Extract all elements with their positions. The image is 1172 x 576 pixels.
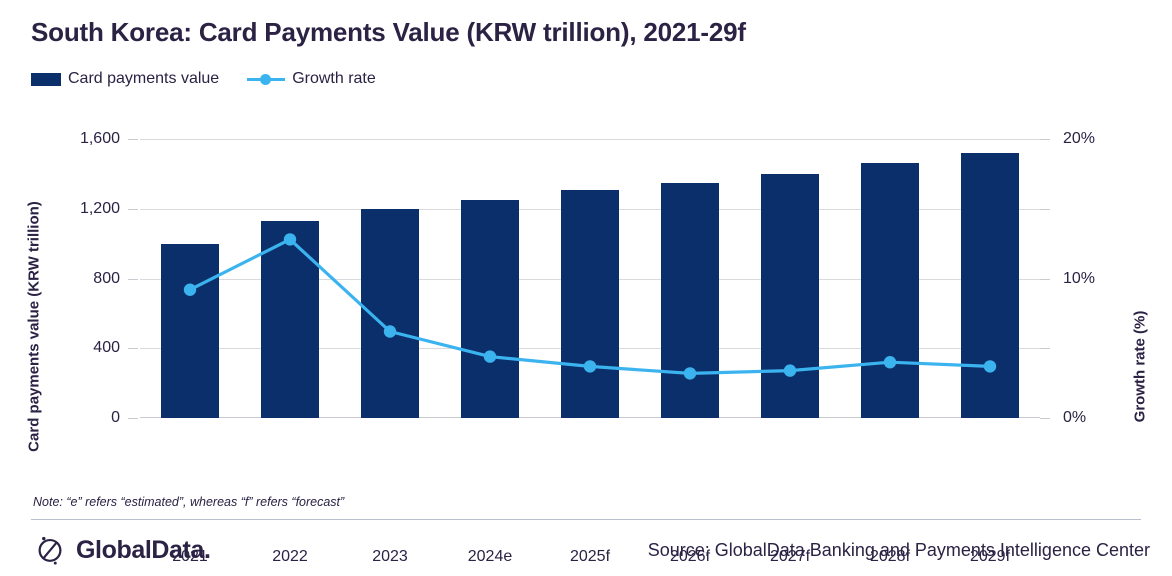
chart-note: Note: “e” refers “estimated”, whereas “f… [33, 495, 344, 509]
y-axis-right-minor-tick [1040, 348, 1050, 349]
bar-swatch-icon [31, 73, 61, 86]
bar-2026f [661, 183, 719, 418]
y-axis-right-tick [1040, 139, 1050, 140]
y-axis-left-tick-label: 1,200 [80, 200, 120, 218]
legend-item-card-payments-value: Card payments value [31, 70, 219, 88]
bar-2024e [461, 200, 519, 418]
y-axis-right-minor-tick [1040, 209, 1050, 210]
note-divider [31, 519, 1141, 520]
legend-label-growth-rate: Growth rate [292, 70, 376, 88]
y-axis-left-tick-label: 400 [93, 339, 120, 357]
bar-2028f [861, 163, 919, 418]
y-axis-left-tick [128, 209, 138, 210]
legend-label-card-payments-value: Card payments value [68, 70, 219, 88]
y-axis-left-tick [128, 139, 138, 140]
globaldata-logo: GlobalData. [33, 533, 211, 567]
bar-2025f [561, 190, 619, 418]
y-axis-right-tick-label: 0% [1063, 409, 1086, 427]
y-axis-left-tick-label: 0 [111, 409, 120, 427]
source-text: Source: GlobalData Banking and Payments … [648, 540, 1150, 561]
y-axis-left-tick-label: 1,600 [80, 130, 120, 148]
y-axis-left-tick [128, 348, 138, 349]
y-axis-right-tick [1040, 418, 1050, 419]
page-footer: GlobalData. Source: GlobalData Banking a… [0, 524, 1172, 576]
chart-canvas: Card payments value (KRW trillion) Growt… [0, 100, 1172, 440]
y-axis-right-tick-label: 20% [1063, 130, 1095, 148]
y-axis-right-title: Growth rate (%) [1132, 267, 1149, 467]
bar-2023 [361, 209, 419, 418]
line-swatch-icon [247, 73, 285, 85]
bar-2022 [261, 221, 319, 418]
bar-2027f [761, 174, 819, 418]
y-axis-right-tick [1040, 279, 1050, 280]
chart-legend: Card payments value Growth rate [31, 70, 376, 88]
bar-2021 [161, 244, 219, 418]
y-axis-right-tick-label: 10% [1063, 270, 1095, 288]
y-axis-left-title: Card payments value (KRW trillion) [26, 197, 43, 457]
page-title: South Korea: Card Payments Value (KRW tr… [31, 17, 746, 48]
bar-2029f [961, 153, 1019, 418]
globaldata-circle-slash-logo-icon [33, 533, 67, 567]
plot-area [140, 139, 1040, 418]
y-axis-left-tick [128, 279, 138, 280]
y-axis-left-tick [128, 418, 138, 419]
y-axis-left-tick-label: 800 [93, 270, 120, 288]
globaldata-logo-text: GlobalData. [76, 536, 211, 565]
legend-item-growth-rate: Growth rate [247, 70, 376, 88]
